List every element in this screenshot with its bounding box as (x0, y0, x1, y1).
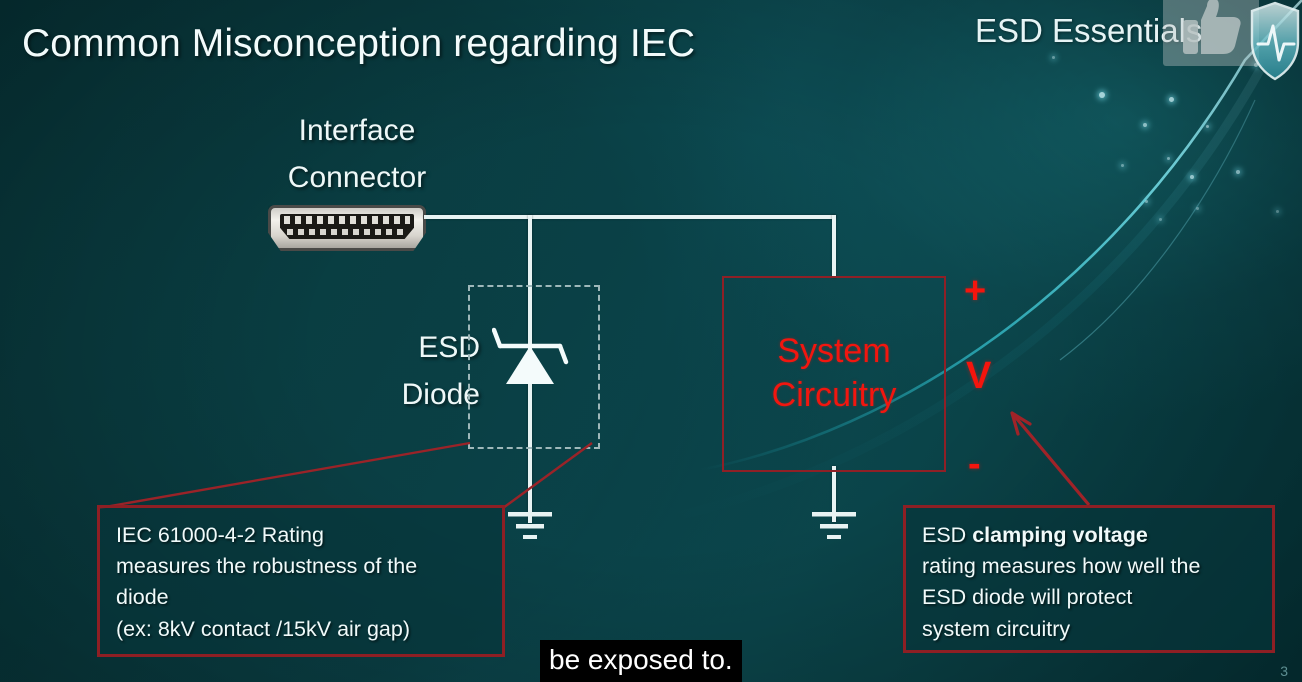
leader-line-left-lower (503, 443, 592, 508)
page-number: 3 (1280, 663, 1288, 679)
polarity-plus-label: + (964, 270, 986, 313)
slide-canvas: Common Misconception regarding IEC ESD E… (0, 0, 1302, 682)
interface-connector-label: Interface Connector (262, 108, 452, 202)
system-circuitry-label: System Circuitry (772, 330, 897, 417)
arrowhead-icon (1012, 413, 1030, 434)
callout-right-prefix: ESD (922, 523, 972, 547)
system-circuitry-box: System Circuitry (722, 276, 946, 472)
polarity-minus-label: - (968, 443, 981, 486)
subtitle-caption: be exposed to. (540, 640, 742, 682)
callout-right-bold: clamping voltage (972, 523, 1148, 547)
ground-symbol-left-icon (504, 508, 556, 542)
callout-clamping-voltage: ESD clamping voltage rating measures how… (903, 505, 1275, 653)
callout-iec-rating: IEC 61000-4-2 Rating measures the robust… (97, 505, 505, 657)
leader-line-left-upper (99, 443, 470, 508)
leader-line-right (1012, 413, 1089, 505)
callout-right-rest: rating measures how well the ESD diode w… (922, 554, 1200, 640)
wire-node-to-system (832, 215, 836, 278)
voltage-label: V (966, 355, 991, 398)
ground-symbol-right-icon (808, 508, 860, 542)
hdmi-connector-icon (268, 205, 426, 251)
zener-diode-icon (492, 318, 572, 400)
wire-connector-to-node (424, 215, 836, 219)
connector-pins-bottom (287, 229, 407, 235)
thumbs-up-icon (1163, 0, 1259, 66)
connector-pins-top (284, 216, 410, 224)
logo-overlay-panel (1163, 0, 1259, 66)
esd-diode-label: ESD Diode (340, 325, 480, 419)
page-title: Common Misconception regarding IEC (22, 22, 695, 66)
shield-pulse-icon (1248, 0, 1302, 84)
